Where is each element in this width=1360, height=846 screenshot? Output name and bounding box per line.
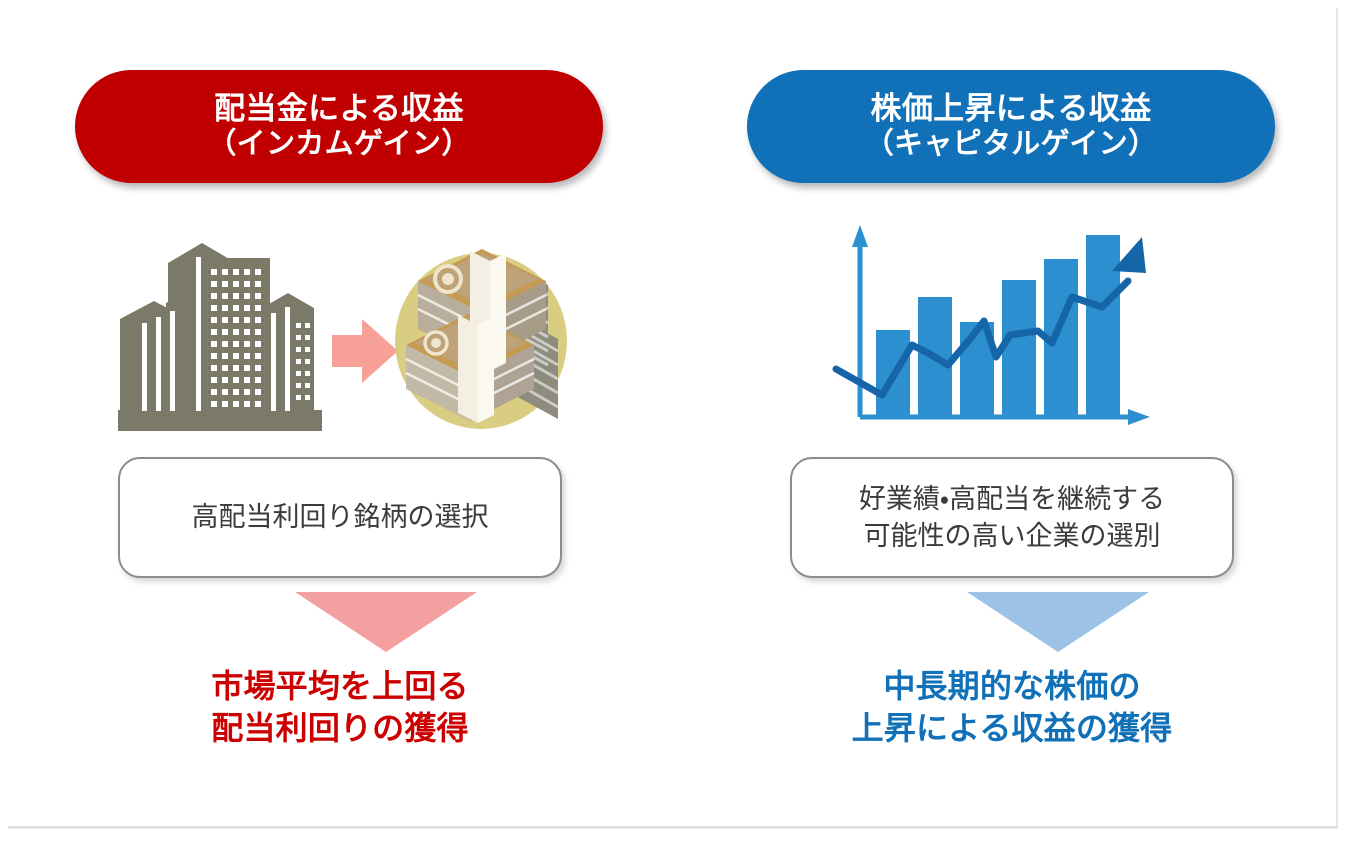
conclusion-line2: 配当利回りの獲得	[40, 707, 640, 749]
cash-bundles-icon	[395, 249, 567, 429]
page-border-right	[1336, 8, 1338, 828]
x-axis-arrowhead	[1128, 409, 1150, 425]
header-pill-line2: （インカムゲイン）	[207, 127, 470, 162]
header-pill-line1: 株価上昇による収益	[871, 91, 1152, 128]
column-income-gain: 配当金による収益 （インカムゲイン）	[40, 0, 640, 846]
bar-6	[1086, 235, 1120, 417]
method-box-income-gain: 高配当利回り銘柄の選択	[118, 457, 562, 578]
conclusion-capital-gain: 中長期的な株価の 上昇による収益の獲得	[712, 665, 1312, 749]
infographic-page: 配当金による収益 （インカムゲイン）	[0, 0, 1360, 846]
conclusion-line2: 上昇による収益の獲得	[712, 707, 1312, 749]
building-to-money-illustration	[40, 215, 640, 450]
right-arrow-icon	[332, 319, 398, 383]
method-box-line2: 可能性の高い企業の選別	[864, 518, 1161, 554]
office-building-icon	[118, 243, 322, 431]
method-box-capital-gain: 好業績・高配当を継続する 可能性の高い企業の選別	[790, 457, 1234, 578]
y-axis-arrowhead	[852, 225, 868, 247]
conclusion-line1: 中長期的な株価の	[712, 665, 1312, 707]
conclusion-line1: 市場平均を上回る	[40, 665, 640, 707]
header-pill-line1: 配当金による収益	[214, 91, 464, 128]
bar-chart-icon	[876, 235, 1120, 417]
method-box-line1: 高配当利回り銘柄の選択	[192, 499, 489, 535]
header-pill-income-gain: 配当金による収益 （インカムゲイン）	[75, 70, 603, 183]
header-pill-line2: （キャピタルゲイン）	[865, 127, 1158, 162]
method-box-line1: 好業績・高配当を継続する	[859, 481, 1165, 517]
header-pill-capital-gain: 株価上昇による収益 （キャピタルゲイン）	[747, 70, 1275, 183]
conclusion-income-gain: 市場平均を上回る 配当利回りの獲得	[40, 665, 640, 749]
rising-bar-chart-illustration	[712, 215, 1312, 450]
column-capital-gain: 株価上昇による収益 （キャピタルゲイン）	[712, 0, 1312, 846]
bar-4	[1002, 280, 1036, 417]
down-triangle-pink	[295, 592, 477, 652]
down-triangle-sky	[967, 592, 1149, 652]
